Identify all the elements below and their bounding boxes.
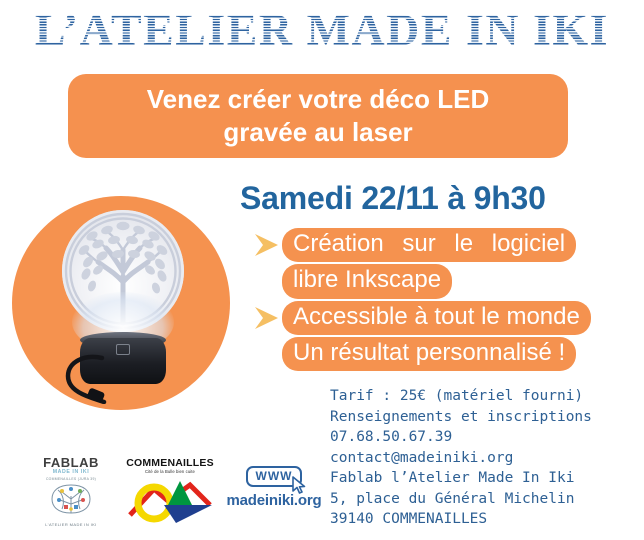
phone-number[interactable]: 07.68.50.67.39 [330, 427, 592, 448]
chevron-right-icon [252, 232, 282, 258]
feature-list: Création sur le logiciel libre Inkscape … [252, 228, 644, 373]
cursor-pointer-icon [291, 476, 307, 494]
website-url[interactable]: madeiniki.org [218, 492, 330, 509]
venue-name: Fablab l’Atelier Made In Iki [330, 468, 592, 489]
list-item-label: libre Inkscape [282, 264, 452, 298]
event-date: Samedi 22/11 à 9h30 [240, 180, 546, 217]
list-item: Création sur le logiciel [252, 228, 644, 262]
list-item-label: Accessible à tout le monde [282, 301, 591, 335]
subtitle-line-2: gravée au laser [223, 116, 412, 149]
logo-row: FABLAB MADE IN IKI COMMENAILLES (JURA 39… [0, 452, 340, 538]
chevron-right-icon [252, 305, 282, 331]
street-address: 5, place du Général Michelin [330, 489, 592, 510]
product-photo [12, 196, 234, 414]
list-item: Un résultat personnalisé ! [252, 337, 644, 371]
lamp-power-button-icon [116, 344, 130, 355]
email-address[interactable]: contact@madeiniki.org [330, 448, 592, 469]
website-logo[interactable]: WWW madeiniki.org [218, 466, 330, 526]
list-item-label: Création sur le logiciel [282, 228, 576, 262]
subtitle-line-1: Venez créer votre déco LED [147, 83, 489, 116]
fablab-logo: FABLAB MADE IN IKI COMMENAILLES (JURA 39… [28, 456, 114, 532]
city-postcode: 39140 COMMENAILLES [330, 509, 592, 530]
subtitle-banner: Venez créer votre déco LED gravée au las… [68, 74, 568, 158]
page-title: L’ATELIER MADE IN IKI [0, 8, 644, 53]
www-badge: WWW [246, 466, 303, 487]
fablab-logo-tagline: MADE IN IKI [28, 469, 114, 477]
www-badge-label: WWW [256, 469, 293, 483]
led-tree-lamp-image [54, 210, 190, 406]
lamp-power-cord [58, 352, 112, 404]
list-item-label: Un résultat personnalisé ! [282, 337, 576, 371]
list-item: Accessible à tout le monde [252, 301, 644, 335]
fablab-logo-footer: L’ATELIER MADE IN IKI [28, 522, 114, 527]
commenailles-emblem-icon [124, 475, 216, 525]
fablab-logo-name: FABLAB [28, 456, 114, 469]
brain-tree-icon [49, 482, 93, 516]
contact-info: Tarif : 25€ (matériel fourni) Renseignem… [330, 386, 592, 530]
info-line: Renseignements et inscriptions [330, 407, 592, 428]
price-line: Tarif : 25€ (matériel fourni) [330, 386, 592, 407]
commenailles-logo: COMMENAILLES Cité de la Bulle bien cuite [122, 458, 218, 532]
list-item: libre Inkscape [252, 264, 644, 298]
commenailles-logo-name: COMMENAILLES [122, 458, 218, 469]
